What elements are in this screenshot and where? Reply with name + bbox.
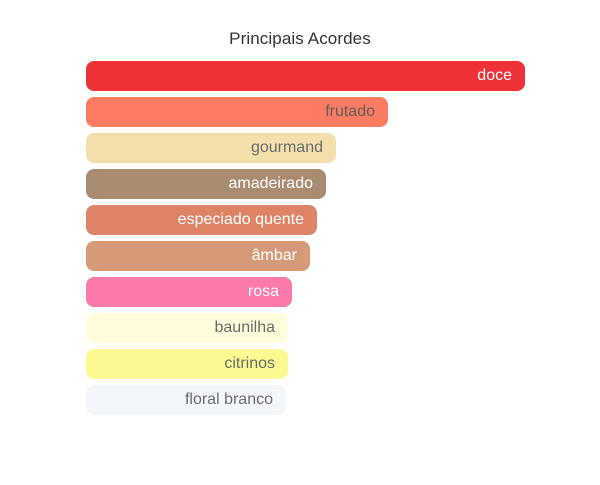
bar-label: âmbar	[252, 247, 310, 265]
bar-row: gourmand	[86, 130, 546, 166]
bar-label: especiado quente	[178, 211, 317, 229]
bar-row: baunilha	[86, 310, 546, 346]
bar-label: citrinos	[224, 355, 288, 373]
bar-frutado[interactable]: frutado	[86, 97, 388, 127]
bar-label: gourmand	[251, 139, 336, 157]
bar-gourmand[interactable]: gourmand	[86, 133, 336, 163]
bar-amadeirado[interactable]: amadeirado	[86, 169, 326, 199]
bar-label: floral branco	[185, 391, 286, 409]
bar-label: amadeirado	[229, 175, 327, 193]
chart-title: Principais Acordes	[0, 28, 600, 50]
bar-âmbar[interactable]: âmbar	[86, 241, 310, 271]
accords-bar-chart: Principais Acordes docefrutadogourmandam…	[0, 0, 600, 485]
bar-baunilha[interactable]: baunilha	[86, 313, 288, 343]
bar-label: rosa	[248, 283, 292, 301]
bar-rosa[interactable]: rosa	[86, 277, 292, 307]
bar-especiado-quente[interactable]: especiado quente	[86, 205, 317, 235]
bar-row: especiado quente	[86, 202, 546, 238]
bar-row: doce	[86, 58, 546, 94]
bar-citrinos[interactable]: citrinos	[86, 349, 288, 379]
bar-row: rosa	[86, 274, 546, 310]
chart-plot-area: docefrutadogourmandamadeiradoespeciado q…	[86, 58, 546, 430]
bar-label: baunilha	[215, 319, 289, 337]
bar-label: doce	[477, 67, 525, 85]
bar-row: citrinos	[86, 346, 546, 382]
bar-row: amadeirado	[86, 166, 546, 202]
bar-label: frutado	[325, 103, 388, 121]
bar-row: frutado	[86, 94, 546, 130]
bar-doce[interactable]: doce	[86, 61, 525, 91]
bar-row: âmbar	[86, 238, 546, 274]
bar-row: floral branco	[86, 382, 546, 418]
bar-floral-branco[interactable]: floral branco	[86, 385, 286, 415]
